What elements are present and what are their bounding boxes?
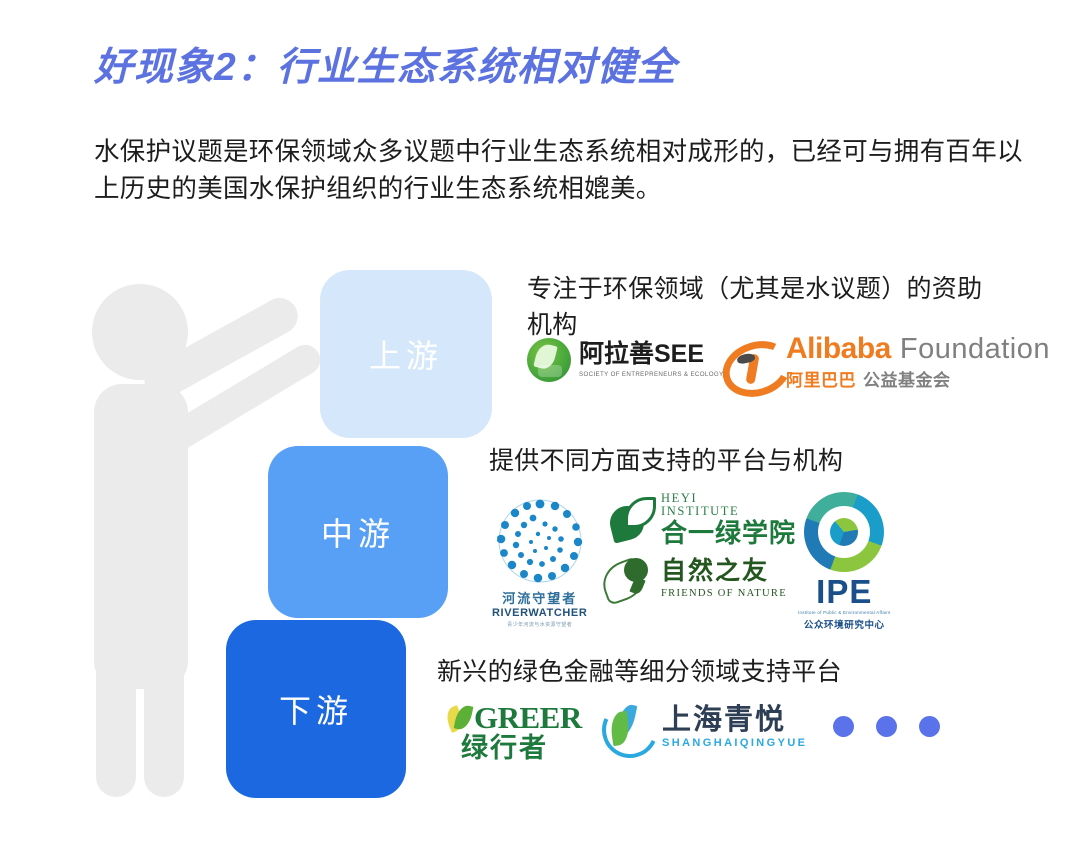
greer-name-zh: 绿行者 (461, 734, 548, 762)
logo-greer: GREER 绿行者 (445, 702, 582, 762)
tier-card-midstream[interactable]: 中游 (268, 446, 448, 618)
slide-root: 好现象2：行业生态系统相对健全 水保护议题是环保领域众多议题中行业生态系统相对成… (0, 0, 1080, 855)
alashan-see-tagline: SOCIETY OF ENTREPRENEURS & ECOLOGY (579, 371, 724, 378)
more-logos-indicator (833, 716, 940, 737)
tier-label-midstream: 中游 (321, 509, 395, 555)
logo-shanghai-qingyue: 上海青悦 SHANGHAIQINGYUE (602, 702, 807, 752)
shanghai-qingyue-name-zh: 上海青悦 (662, 705, 807, 735)
tier-label-upstream: 上游 (369, 331, 443, 377)
ipe-name: IPE (816, 575, 872, 608)
dot-2 (876, 716, 897, 737)
riverwatcher-emblem-icon (497, 498, 583, 584)
tier-card-upstream[interactable]: 上游 (320, 270, 492, 438)
riverwatcher-name-en: RIVERWATCHER (492, 607, 587, 619)
heyi-leaf-icon (608, 496, 654, 542)
ipe-name-zh: 公众环境研究中心 (804, 617, 885, 631)
alibaba-smile-icon (722, 340, 780, 386)
tier-label-downstream: 下游 (279, 686, 353, 732)
tier-card-downstream[interactable]: 下游 (226, 620, 406, 798)
dot-1 (833, 716, 854, 737)
section-heading-downstream: 新兴的绿色金融等细分领域支持平台 (437, 655, 977, 691)
alibaba-foundation-zh: 公益基金会 (863, 371, 951, 390)
heyi-name-en-1: HEYI (661, 492, 796, 505)
logo-alashan-see: 阿拉善SEE SOCIETY OF ENTREPRENEURS & ECOLOG… (527, 338, 724, 382)
ipe-swirl-icon (804, 492, 884, 572)
friends-of-nature-name-zh: 自然之友 (661, 559, 787, 585)
riverwatcher-tagline: 青少年河流与水资源守望者 (507, 621, 572, 628)
heyi-name-zh: 合一绿学院 (661, 520, 796, 547)
logo-alibaba-foundation: AlibabaFoundation 阿里巴巴公益基金会 (722, 334, 1050, 391)
shanghai-qingyue-leaf-icon (602, 702, 656, 752)
section-heading-midstream: 提供不同方面支持的平台与机构 (489, 444, 989, 480)
logo-ipe: IPE Institute of Public & Environmental … (798, 492, 891, 631)
friends-of-nature-name-en: FRIENDS OF NATURE (661, 588, 787, 599)
riverwatcher-name-zh: 河流守望者 (502, 588, 577, 607)
lede-paragraph: 水保护议题是环保领域众多议题中行业生态系统相对成形的，已经可与拥有百年以上历史的… (94, 134, 1024, 209)
logo-riverwatcher: 河流守望者 RIVERWATCHER 青少年河流与水资源守望者 (492, 498, 587, 628)
alashan-see-emblem-icon (527, 338, 571, 382)
ipe-name-en: Institute of Public & Environmental Affa… (798, 610, 891, 615)
alibaba-foundation-word: Foundation (900, 333, 1050, 365)
alashan-see-name: 阿拉善SEE (579, 342, 724, 367)
logo-heyi-institute: HEYI INSTITUTE 合一绿学院 (608, 492, 796, 547)
heyi-name-en-2: INSTITUTE (661, 505, 796, 518)
friends-of-nature-bird-icon (602, 556, 654, 602)
alibaba-brand: Alibaba (786, 332, 891, 365)
alibaba-brand-zh: 阿里巴巴 (786, 371, 856, 390)
logo-friends-of-nature: 自然之友 FRIENDS OF NATURE (602, 556, 787, 602)
dot-3 (919, 716, 940, 737)
greer-name-en: GREER (474, 702, 582, 733)
page-title: 好现象2：行业生态系统相对健全 (94, 36, 677, 92)
shanghai-qingyue-name-en: SHANGHAIQINGYUE (662, 737, 807, 749)
greer-leaf-icon (445, 703, 473, 733)
